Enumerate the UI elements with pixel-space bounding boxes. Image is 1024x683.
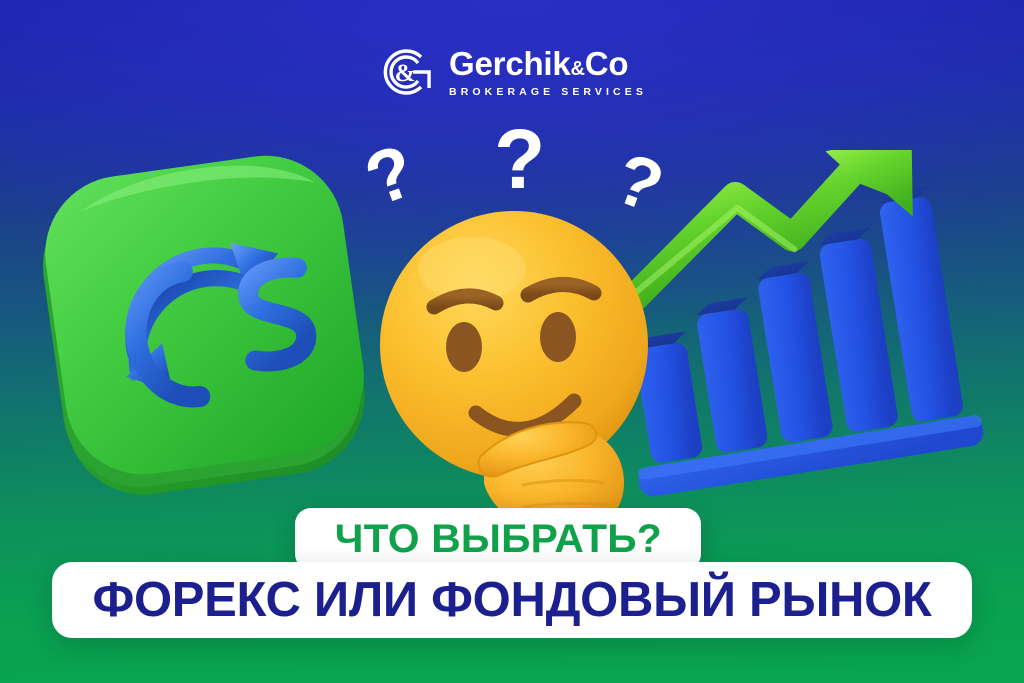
brand-logo[interactable]: & Gerchik&Co BROKERAGE SERVICES — [377, 44, 647, 100]
thinking-face-emoji — [372, 195, 672, 525]
brand-name-main: Gerchik — [449, 45, 571, 82]
brand-tagline: BROKERAGE SERVICES — [449, 87, 647, 98]
currency-exchange-icon — [38, 150, 388, 500]
promo-poster: ? ? ? — [0, 0, 1024, 683]
headline-banner-top: ЧТО ВЫБРАТЬ? — [295, 508, 701, 570]
brand-ampersand: & — [571, 58, 585, 80]
brand-name: Gerchik&Co — [449, 47, 647, 80]
headline-subject: ФОРЕКС ИЛИ ФОНДОВЫЙ РЫНОК — [92, 576, 931, 625]
svg-text:&: & — [395, 60, 416, 87]
brand-name-suffix: Co — [585, 45, 629, 82]
brand-logo-text: Gerchik&Co BROKERAGE SERVICES — [449, 47, 647, 98]
headline-banner-bottom: ФОРЕКС ИЛИ ФОНДОВЫЙ РЫНОК — [52, 562, 972, 638]
gerchik-circle-ampersand-icon: & — [377, 44, 433, 100]
headline-question: ЧТО ВЫБРАТЬ? — [334, 519, 661, 559]
question-mark-icon: ? — [494, 112, 545, 206]
